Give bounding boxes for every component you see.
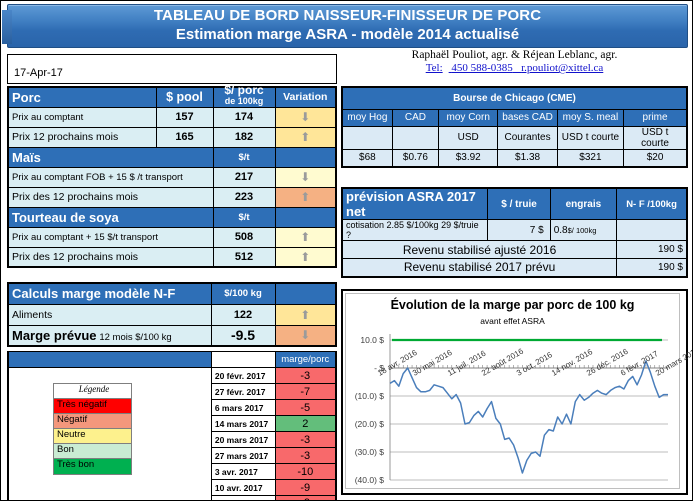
- cme-subheader-row: USD Courantes USD t courte USD t courte: [342, 126, 687, 149]
- legend-item-negatif: Négatif: [54, 414, 131, 429]
- commodity-table-wrapper: Porc $ pool $/ porc de 100kg Variation P…: [7, 86, 337, 268]
- margin-section-title: Calculs marge modèle N-F: [8, 283, 211, 304]
- history-date: 6 mars 2017: [211, 400, 275, 416]
- cme-table: Bourse de Chicago (CME) moy Hog CAD moy …: [341, 86, 688, 168]
- email-link[interactable]: r.pouliot@xittel.ca: [521, 62, 603, 74]
- table-row: Revenu stabilisé 2017 prévu 190 $: [342, 259, 687, 277]
- margin-blank-cell: [275, 283, 336, 304]
- spacer-cell: [8, 368, 211, 384]
- table-row: Prix des 12 prochains mois 512 ⬆: [8, 247, 336, 267]
- history-margin: -5: [275, 400, 336, 416]
- variation-cell: ⬆: [275, 127, 336, 147]
- history-blank-cell: [8, 352, 211, 368]
- table-row: 10 avr. 2017 -9: [8, 480, 336, 496]
- asra-title: prévision ASRA 2017 net: [342, 188, 488, 220]
- table-row: 20 févr. 2017 -3: [8, 368, 336, 384]
- variation-header: Variation: [275, 87, 336, 107]
- table-row: Revenu stabilisé ajusté 2016 190 $: [342, 241, 687, 259]
- asra-header-nf: N- F /100kg: [617, 188, 687, 220]
- history-date: 27 mars 2017: [211, 448, 275, 464]
- table-row: 17 avr. 2017 -9: [8, 496, 336, 501]
- history-margin: -9: [275, 496, 336, 501]
- asra-row-label: Revenu stabilisé 2017 prévu: [342, 259, 617, 277]
- cme-sub-cad: [392, 126, 438, 149]
- arrow-up-icon: ⬆: [300, 231, 310, 243]
- row-pool-value: 165: [156, 127, 213, 147]
- legend-box: Légende Très négatif Négatif Neutre Bon …: [53, 383, 132, 475]
- row-value: -9.5: [211, 325, 275, 346]
- row-label: Prix au comptant + 15 $/t transport: [8, 227, 213, 247]
- history-date: 20 mars 2017: [211, 432, 275, 448]
- row-value: 122: [211, 304, 275, 325]
- cme-header-cad: CAD: [392, 109, 438, 126]
- arrow-up-icon: ⬆: [300, 251, 310, 263]
- porc-header-row: Porc $ pool $/ porc de 100kg Variation: [8, 87, 336, 107]
- variation-cell: ⬆: [275, 227, 336, 247]
- margin-table-wrapper: Calculs marge modèle N-F $/100 kg Alimen…: [7, 282, 337, 347]
- asra-header-truie: $ / truie: [488, 188, 550, 220]
- mais-blank-cell: [275, 147, 336, 167]
- cme-sub-bases: Courantes: [498, 126, 557, 149]
- cme-sub-prime: USD t courte: [624, 126, 687, 149]
- cme-sub-hog: [342, 126, 392, 149]
- row-value: 512: [213, 247, 275, 267]
- row-label: Prix 12 prochains mois: [8, 127, 156, 147]
- legend-item-bon: Bon: [54, 444, 131, 459]
- porc-unit-l2: de 100kg: [217, 96, 272, 106]
- cme-header-prime: prime: [624, 109, 687, 126]
- cme-header-hog: moy Hog: [342, 109, 392, 126]
- dashboard-page: TABLEAU DE BORD NAISSEUR-FINISSEUR DE PO…: [0, 0, 693, 501]
- cme-value-corn: $3.92: [439, 149, 498, 167]
- history-margin: -3: [275, 448, 336, 464]
- history-margin-header: marge/porc: [275, 352, 336, 368]
- authors-block: Raphaël Pouliot, agr. & Réjean Leblanc, …: [341, 49, 688, 84]
- row-value: 217: [213, 167, 275, 187]
- asra-engrais-unit: $/ 100kg: [568, 226, 597, 235]
- title-banner-text: TABLEAU DE BORD NAISSEUR-FINISSEUR DE PO…: [8, 7, 687, 45]
- history-date: 20 févr. 2017: [211, 368, 275, 384]
- row-label-cell: Marge prévue 12 mois $/100 kg: [8, 325, 211, 346]
- phone-number[interactable]: 450 588-0385: [451, 62, 512, 74]
- variation-cell: ⬆: [275, 247, 336, 267]
- row-pool-value: 157: [156, 107, 213, 127]
- asra-row-value: 190 $: [617, 241, 687, 259]
- pool-header: $ pool: [156, 87, 213, 107]
- cme-header-row: moy Hog CAD moy Corn bases CAD moy S. me…: [342, 109, 687, 126]
- table-row: Prix 12 prochains mois 165 182 ⬆: [8, 127, 336, 147]
- title-banner: TABLEAU DE BORD NAISSEUR-FINISSEUR DE PO…: [7, 4, 688, 48]
- mais-unit: $/t: [213, 147, 275, 167]
- report-date: 17-Apr-17: [7, 54, 337, 84]
- row-porc-value: 174: [213, 107, 275, 127]
- history-margin: 2: [275, 416, 336, 432]
- legend-item-tres-bon: Très bon: [54, 459, 131, 474]
- chart-y-tick-label: (20.0) $: [346, 419, 384, 429]
- row-label: Prix au comptant: [8, 107, 156, 127]
- cme-value-prime: $20: [624, 149, 687, 167]
- table-row: Prix au comptant + 15 $/t transport 508 …: [8, 227, 336, 247]
- asra-engrais-value: 0.8: [554, 225, 568, 236]
- history-date: 10 avr. 2017: [211, 480, 275, 496]
- author-names: Raphaël Pouliot, agr. & Réjean Leblanc, …: [341, 49, 688, 61]
- asra-cotisation-truie: 7 $: [488, 220, 550, 241]
- cme-value-cad: $0.76: [392, 149, 438, 167]
- cme-table-wrapper: Bourse de Chicago (CME) moy Hog CAD moy …: [341, 86, 688, 168]
- contact-line[interactable]: Tel: 450 588-0385 r.pouliot@xittel.ca: [341, 62, 688, 74]
- porc-unit-l1: $/ porc: [217, 85, 272, 96]
- spacer-cell: [8, 480, 211, 496]
- table-row: Aliments 122 ⬆: [8, 304, 336, 325]
- asra-header-row: prévision ASRA 2017 net $ / truie engrai…: [342, 188, 687, 220]
- margin-unit: $/100 kg: [211, 283, 275, 304]
- table-row: Prix au comptant FOB + 15 $ /t transport…: [8, 167, 336, 187]
- asra-row-value: 190 $: [617, 259, 687, 277]
- cme-title: Bourse de Chicago (CME): [342, 87, 687, 109]
- soya-unit: $/t: [213, 207, 275, 227]
- soya-section-title: Tourteau de soya: [8, 207, 213, 227]
- tel-label: Tel:: [426, 62, 443, 74]
- arrow-up-icon: ⬆: [300, 191, 310, 203]
- row-label: Prix au comptant FOB + 15 $ /t transport: [8, 167, 213, 187]
- cme-value-bases: $1.38: [498, 149, 557, 167]
- history-margin: -10: [275, 464, 336, 480]
- table-row: Prix au comptant 157 174 ⬇: [8, 107, 336, 127]
- chart-plot-frame: Évolution de la marge par porc de 100 kg…: [345, 293, 680, 489]
- history-date: 3 avr. 2017: [211, 464, 275, 480]
- history-date: 27 févr. 2017: [211, 384, 275, 400]
- asra-cotisation-engrais: 0.8$/ 100kg: [550, 220, 616, 241]
- variation-cell: ⬆: [275, 187, 336, 207]
- spacer-cell: [8, 496, 211, 501]
- chart-y-tick-label: 10.0 $: [346, 335, 384, 345]
- asra-table: prévision ASRA 2017 net $ / truie engrai…: [341, 187, 688, 278]
- legend-title: Légende: [54, 384, 131, 399]
- title-line-2: Estimation marge ASRA - modèle 2014 actu…: [8, 26, 687, 45]
- variation-cell: ⬆: [275, 304, 336, 325]
- arrow-down-icon: ⬇: [300, 329, 310, 341]
- variation-cell: ⬇: [275, 325, 336, 346]
- cme-sub-corn: USD: [439, 126, 498, 149]
- row-value: 508: [213, 227, 275, 247]
- soya-header-row: Tourteau de soya $/t: [8, 207, 336, 227]
- cme-header-smeal: moy S. meal: [557, 109, 623, 126]
- row-label: Prix des 12 prochains mois: [8, 247, 213, 267]
- cme-value-hog: $68: [342, 149, 392, 167]
- asra-cotisation-nf: [617, 220, 687, 241]
- cme-title-row: Bourse de Chicago (CME): [342, 87, 687, 109]
- mais-header-row: Maïs $/t: [8, 147, 336, 167]
- row-label: Marge prévue: [12, 328, 97, 343]
- row-porc-value: 182: [213, 127, 275, 147]
- row-label-sub: 12 mois $/100 kg: [99, 332, 171, 343]
- table-row: Marge prévue 12 mois $/100 kg -9.5 ⬇: [8, 325, 336, 346]
- variation-cell: ⬇: [275, 107, 336, 127]
- row-label: Prix des 12 prochains mois: [8, 187, 213, 207]
- table-row: Prix des 12 prochains mois 223 ⬆: [8, 187, 336, 207]
- arrow-up-icon: ⬆: [300, 131, 310, 143]
- chart-y-tick-label: (40.0) $: [346, 475, 384, 485]
- chart-svg: [346, 294, 681, 490]
- chart-y-tick-label: (10.0) $: [346, 391, 384, 401]
- history-margin: -3: [275, 368, 336, 384]
- row-label: Aliments: [8, 304, 211, 325]
- asra-cotisation-label: cotisation 2.85 $/100kg 29 $/truie ?: [342, 220, 488, 241]
- asra-header-engrais: engrais: [550, 188, 616, 220]
- porc-unit-header: $/ porc de 100kg: [213, 87, 275, 107]
- history-date: 17 avr. 2017: [211, 496, 275, 501]
- arrow-down-icon: ⬇: [300, 111, 310, 123]
- arrow-up-icon: ⬆: [300, 309, 310, 321]
- history-date: 14 mars 2017: [211, 416, 275, 432]
- history-header-row: en date du marge/porc: [8, 352, 336, 368]
- margin-header-row: Calculs marge modèle N-F $/100 kg: [8, 283, 336, 304]
- row-value: 223: [213, 187, 275, 207]
- variation-cell: ⬇: [275, 167, 336, 187]
- porc-section-title: Porc: [8, 87, 156, 107]
- soya-blank-cell: [275, 207, 336, 227]
- commodity-table: Porc $ pool $/ porc de 100kg Variation P…: [7, 86, 337, 268]
- history-margin: -3: [275, 432, 336, 448]
- cme-value-smeal: $321: [557, 149, 623, 167]
- chart-y-tick-label: (30.0) $: [346, 447, 384, 457]
- cme-sub-smeal: USD t courte: [557, 126, 623, 149]
- cme-header-corn: moy Corn: [439, 109, 498, 126]
- legend-item-neutre: Neutre: [54, 429, 131, 444]
- cme-value-row: $68 $0.76 $3.92 $1.38 $321 $20: [342, 149, 687, 167]
- asra-table-wrapper: prévision ASRA 2017 net $ / truie engrai…: [341, 187, 688, 278]
- history-margin: -9: [275, 480, 336, 496]
- margin-table: Calculs marge modèle N-F $/100 kg Alimen…: [7, 282, 337, 347]
- legend-item-tres-negatif: Très négatif: [54, 399, 131, 414]
- asra-cotisation-row: cotisation 2.85 $/100kg 29 $/truie ? 7 $…: [342, 220, 687, 241]
- cme-header-bases: bases CAD: [498, 109, 557, 126]
- arrow-down-icon: ⬇: [300, 171, 310, 183]
- title-line-1: TABLEAU DE BORD NAISSEUR-FINISSEUR DE PO…: [8, 7, 687, 26]
- history-date-header: en date du: [211, 352, 275, 368]
- history-margin: -7: [275, 384, 336, 400]
- asra-row-label: Revenu stabilisé ajusté 2016: [342, 241, 617, 259]
- margin-evolution-chart: Évolution de la marge par porc de 100 kg…: [341, 289, 688, 495]
- mais-section-title: Maïs: [8, 147, 213, 167]
